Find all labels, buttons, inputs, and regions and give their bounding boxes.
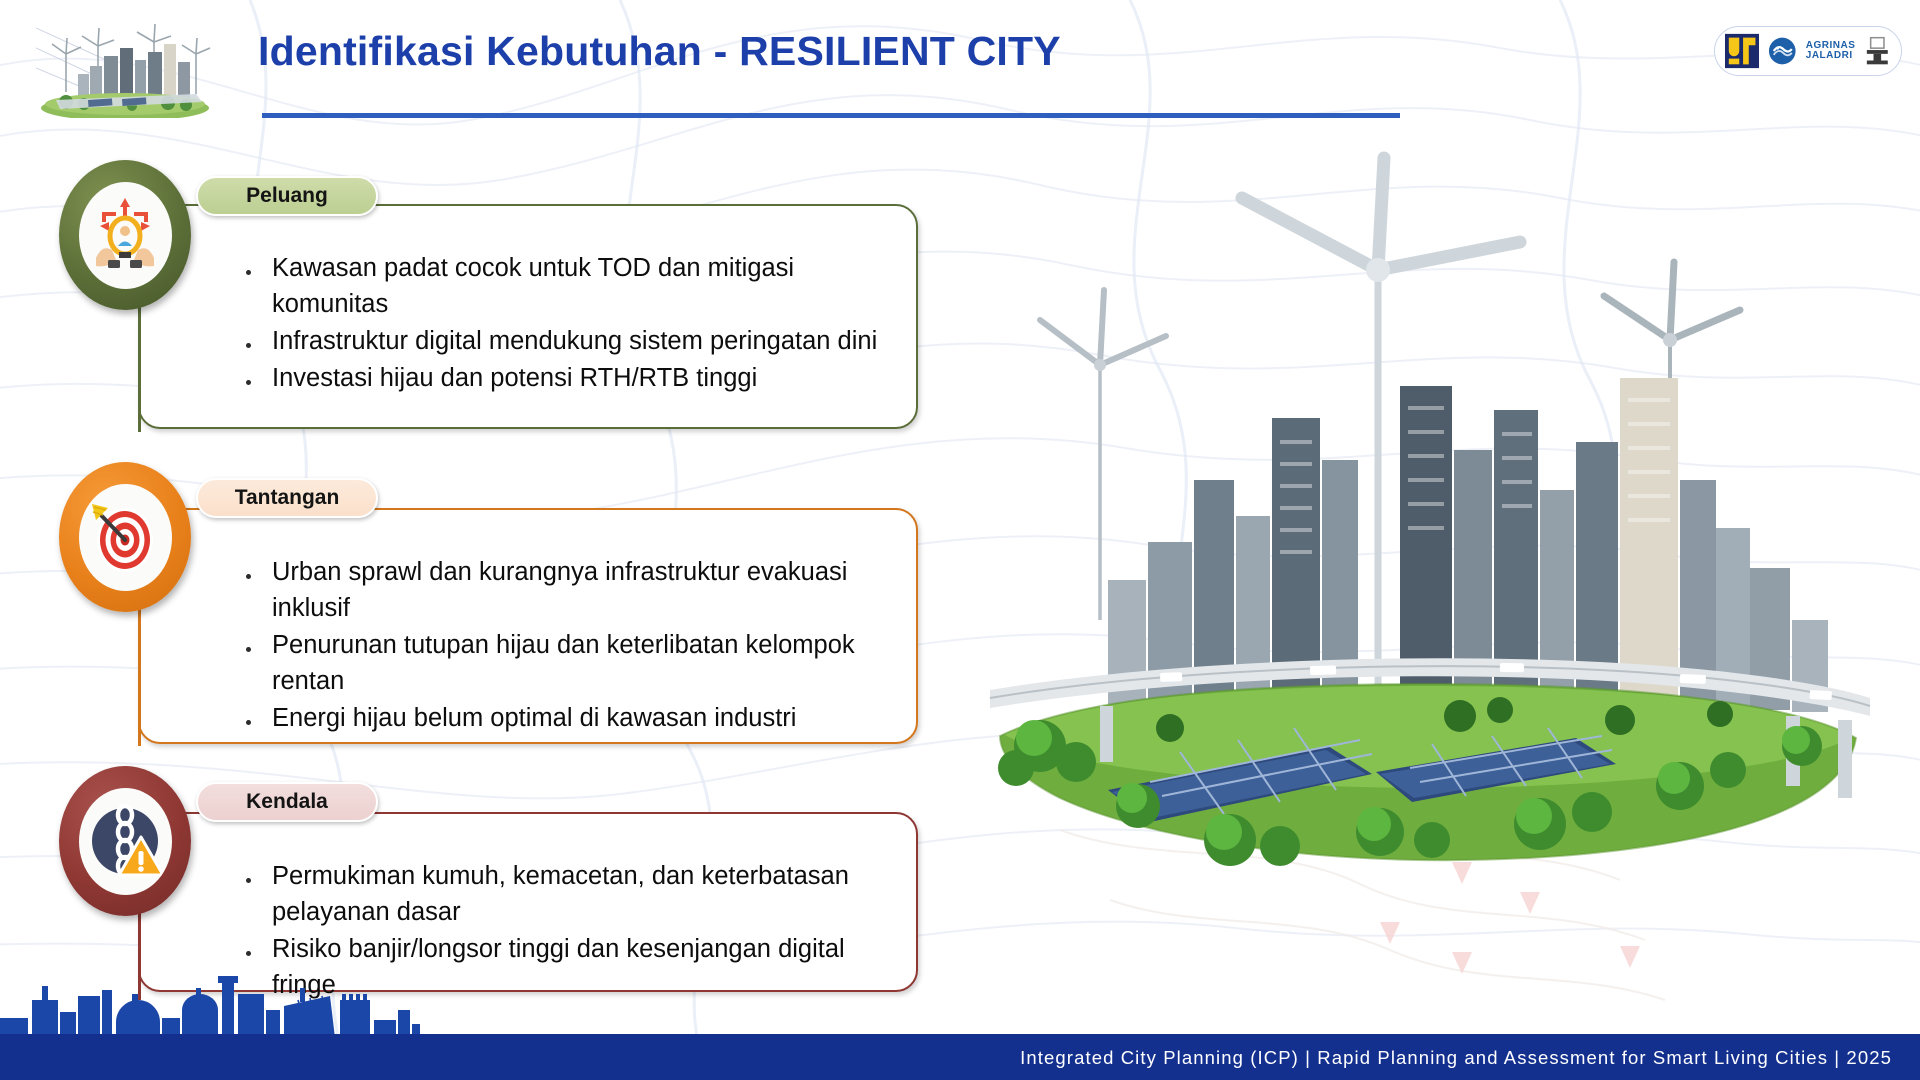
card-peluang-label: Peluang [246,184,328,208]
card-tantangan-badge [59,462,191,612]
card-peluang-badge [59,160,191,310]
green-city-thumbnail-icon [36,14,214,118]
opportunity-lightbulb-hands-icon [79,182,172,289]
card-peluang-body: Kawasan padat cocok untuk TOD dan mitiga… [138,204,918,411]
card-tantangan-label: Tantangan [235,486,340,510]
ministry-logo [1725,33,1759,69]
footer-text: Integrated City Planning (ICP) | Rapid P… [1020,1047,1892,1069]
page-title: Identifikasi Kebutuhan - RESILIENT CITY [258,28,1061,75]
card-kendala-stem [138,908,141,1000]
agrinas-jaladri-logo [1768,36,1797,66]
card-kendala-badge [59,766,191,916]
card-peluang-stem [138,300,141,432]
card-peluang-label-pill: Peluang [196,176,378,216]
agrinas-jaladri-wordmark: AGRINASJALADRI [1806,41,1856,61]
title-underline-rule [262,113,1400,118]
list-item: Penurunan tutupan hijau dan keterlibatan… [238,627,902,699]
card-kendala-label: Kendala [246,790,328,814]
list-item: Kawasan padat cocok untuk TOD dan mitiga… [238,250,902,322]
list-item: Energi hijau belum optimal di kawasan in… [238,700,902,736]
card-kendala-label-pill: Kendala [196,782,378,822]
green-smart-city-illustration [980,150,1880,910]
card-peluang-bullet-list: Kawasan padat cocok untuk TOD dan mitiga… [238,250,902,396]
list-item: Urban sprawl dan kurangnya infrastruktur… [238,554,902,626]
card-tantangan-bullet-list: Urban sprawl dan kurangnya infrastruktur… [238,554,902,736]
target-dartboard-arrow-icon [79,484,172,591]
list-item: Investasi hijau dan potensi RTH/RTB ting… [238,360,902,396]
slide-root: Identifikasi Kebutuhan - RESILIENT CITY … [0,0,1920,1080]
list-item: Infrastruktur digital mendukung sistem p… [238,323,902,359]
card-tantangan-stem [138,604,141,746]
partner-emblem-logo [1864,35,1891,67]
logo-bar: AGRINASJALADRI [1714,26,1902,76]
list-item: Permukiman kumuh, kemacetan, dan keterba… [238,858,902,930]
card-tantangan-body: Urban sprawl dan kurangnya infrastruktur… [138,508,918,751]
card-tantangan-label-pill: Tantangan [196,478,378,518]
chain-warning-icon [79,788,172,895]
